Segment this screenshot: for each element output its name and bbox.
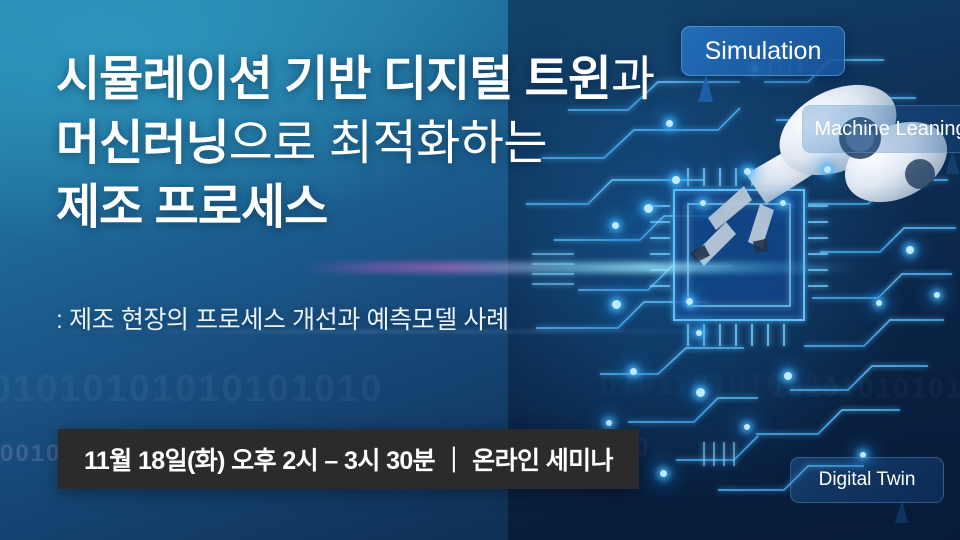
glow-node bbox=[824, 166, 831, 173]
title-line-1-bold: 시뮬레이션 기반 디지털 트윈 bbox=[56, 53, 611, 106]
title-line-3-bold: 제조 프로세스 bbox=[56, 181, 327, 234]
glow-node bbox=[660, 470, 667, 477]
webinar-banner: 01010101010101010 10010101010010 0101101… bbox=[0, 0, 960, 540]
glow-node bbox=[612, 300, 621, 309]
title-line-2: 머신러닝으로 최적화하는 bbox=[56, 120, 696, 168]
callout-machine-leaning-label: Machine Leaning bbox=[814, 118, 960, 141]
callout-digital-twin-label: Digital Twin bbox=[819, 469, 916, 491]
glow-node bbox=[696, 388, 705, 397]
callout-machine-leaning: Machine Leaning bbox=[802, 105, 960, 153]
glow-node bbox=[744, 168, 751, 175]
subtitle: : 제조 현장의 프로세스 개선과 예측모델 사례 bbox=[56, 300, 509, 336]
glow-node bbox=[744, 424, 750, 430]
title-line-2-bold: 머신러닝 bbox=[56, 117, 229, 170]
glow-node bbox=[876, 300, 882, 306]
title-line-2-light: 으로 최적화하는 bbox=[229, 117, 547, 170]
headline-block: 시뮬레이션 기반 디지털 트윈과 머신러닝으로 최적화하는 제조 프로세스 bbox=[56, 56, 696, 258]
glow-node bbox=[700, 200, 706, 206]
glow-node bbox=[630, 368, 637, 375]
title-line-3: 제조 프로세스 bbox=[56, 184, 696, 232]
callout-simulation: Simulation bbox=[681, 26, 845, 76]
glow-node bbox=[934, 292, 940, 298]
glow-node bbox=[606, 420, 612, 426]
glow-node bbox=[784, 372, 792, 380]
date-time-text: 11월 18일(화) 오후 2시 – 3시 30분 ｜ 온라인 세미나 bbox=[84, 441, 613, 477]
callout-simulation-label: Simulation bbox=[705, 37, 822, 66]
glow-node bbox=[906, 246, 914, 254]
glow-node bbox=[780, 200, 786, 206]
title-line-1: 시뮬레이션 기반 디지털 트윈과 bbox=[56, 56, 696, 104]
light-streak bbox=[300, 262, 860, 273]
title-line-1-light: 과 bbox=[611, 53, 655, 106]
date-time-bar: 11월 18일(화) 오후 2시 – 3시 30분 ｜ 온라인 세미나 bbox=[58, 429, 639, 489]
callout-digital-twin: Digital Twin bbox=[790, 457, 944, 503]
glow-node bbox=[686, 298, 693, 305]
